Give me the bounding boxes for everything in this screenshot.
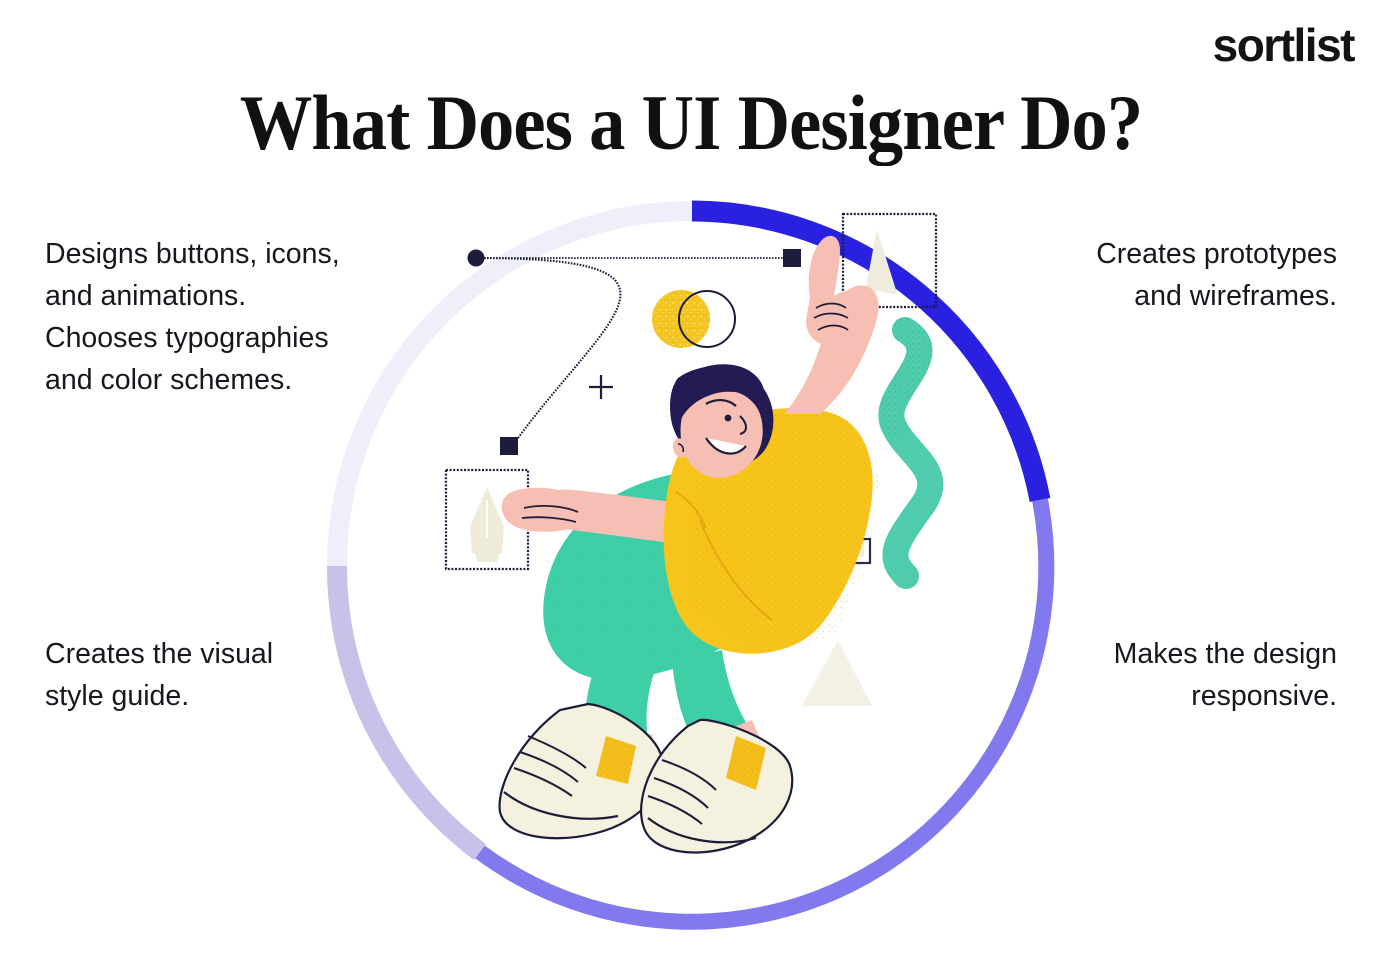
anchor-dot-icon <box>468 250 485 267</box>
pen-nib-icon <box>470 487 504 562</box>
yellow-circle-decoration <box>652 290 735 348</box>
anchor-square-bottom-icon <box>500 437 518 455</box>
ring-segment-light-lavender <box>337 566 480 852</box>
teal-squiggle-decoration <box>891 330 930 576</box>
illustration <box>0 0 1382 980</box>
infographic-canvas: sortlist What Does a UI Designer Do? Des… <box>0 0 1382 980</box>
cream-triangle-decoration <box>802 640 872 706</box>
anchor-square-top-icon <box>783 249 801 267</box>
character-shoe-right <box>641 720 792 853</box>
plus-mark-icon <box>589 375 613 399</box>
